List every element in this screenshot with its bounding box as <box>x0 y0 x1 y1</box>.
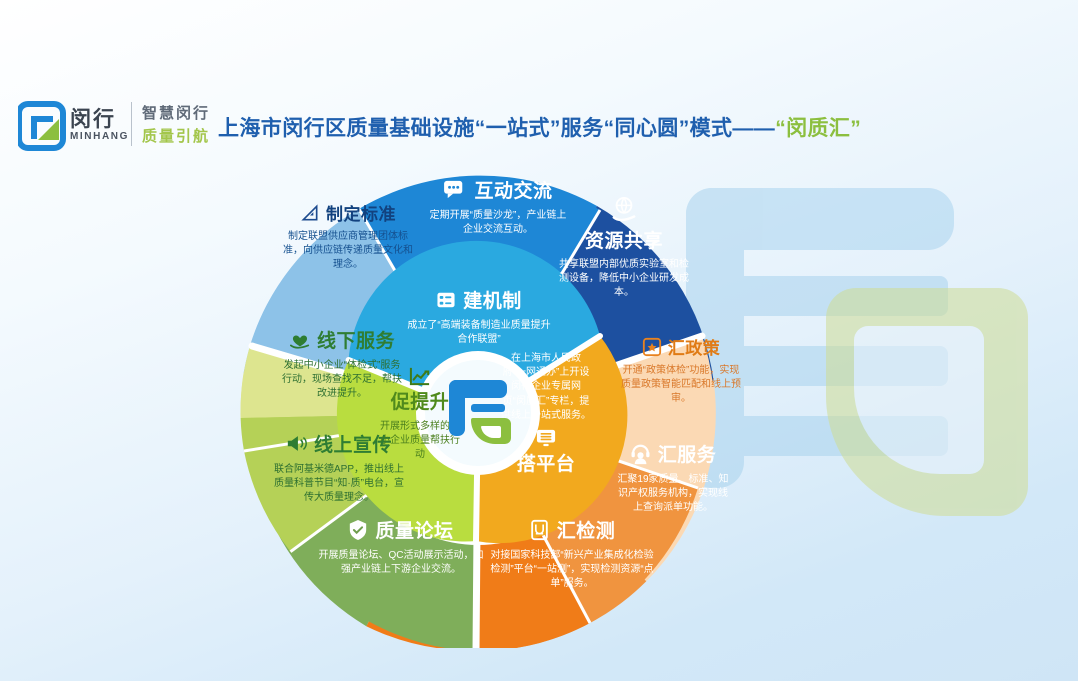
concentric-circle-diagram: 制定标准 制定联盟供应商管理团体标准，向供应链传递质量文化和理念。 互动交流 定… <box>228 168 728 648</box>
logo: 闵行 MINHANG 智慧闵行 质量引航 <box>18 100 204 152</box>
page-title-main: 上海市闵行区质量基础设施“一站式”服务“同心圆”模式—— <box>218 117 775 140</box>
logo-name-cn: 闵行 <box>70 103 116 133</box>
background-watermark <box>680 180 1040 640</box>
page-title-highlight: “闵质汇” <box>775 117 861 140</box>
minhang-logo-mark <box>19 104 63 148</box>
logo-slogan-line2: 质量引航 <box>142 125 210 146</box>
logo-slogan-line1: 智慧闵行 <box>142 102 210 123</box>
logo-name-en: MINHANG <box>70 131 129 142</box>
page-title: 上海市闵行区质量基础设施“一站式”服务“同心圆”模式——“闵质汇” <box>218 112 861 142</box>
logo-divider <box>131 102 132 146</box>
